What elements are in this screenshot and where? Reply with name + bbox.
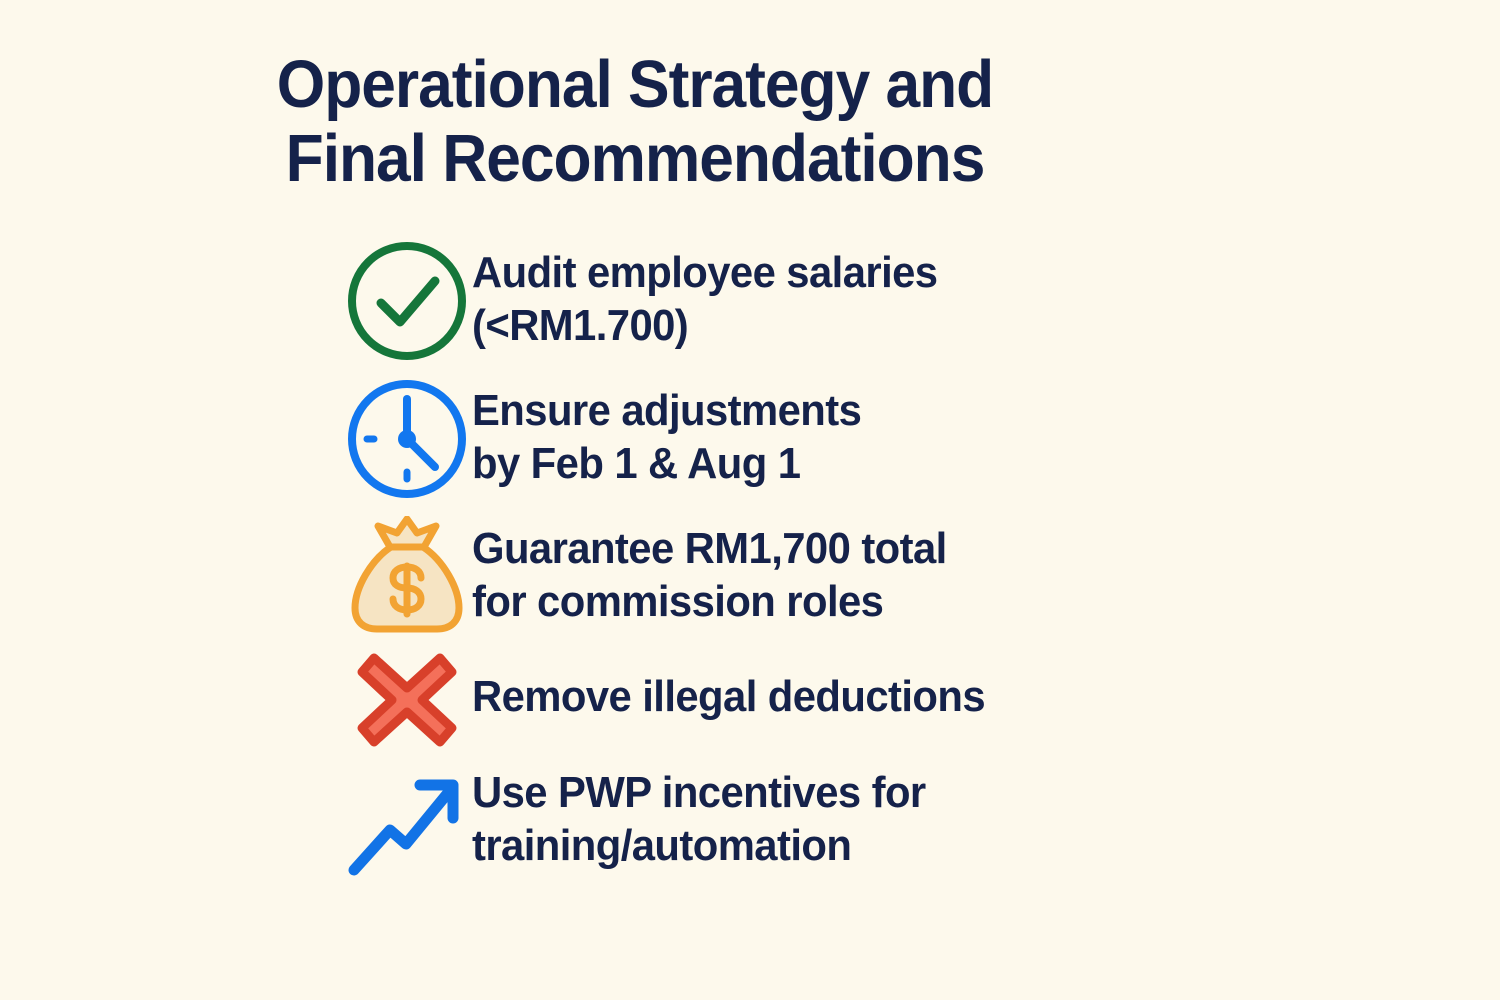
clock-icon: [342, 376, 472, 502]
list-item-label: Ensure adjustments by Feb 1 & Aug 1: [472, 376, 1318, 490]
list-item-label: Remove illegal deductions: [472, 648, 1318, 723]
list-item: Remove illegal deductions: [342, 648, 1362, 752]
list-item-label: Use PWP incentives for training/automati…: [472, 764, 1318, 872]
list-item: Ensure adjustments by Feb 1 & Aug 1: [342, 376, 1362, 502]
trending-up-arrow-icon: [342, 764, 472, 882]
check-circle-icon: [342, 238, 472, 364]
list-item: Use PWP incentives for training/automati…: [342, 764, 1362, 882]
page-title: Operational Strategy and Final Recommend…: [0, 48, 1500, 196]
list-item: Audit employee salaries (<RM1.700): [342, 238, 1362, 364]
slide-canvas: Operational Strategy and Final Recommend…: [0, 0, 1500, 1000]
red-cross-icon: [342, 648, 472, 752]
list-item-label: Guarantee RM1,700 total for commission r…: [472, 514, 1318, 628]
money-bag-icon: [342, 514, 472, 636]
list-item-label: Audit employee salaries (<RM1.700): [472, 238, 1318, 352]
page-title-line-1: Operational Strategy and: [44, 48, 1225, 122]
list-item: Guarantee RM1,700 total for commission r…: [342, 514, 1362, 636]
recommendations-list: Audit employee salaries (<RM1.700) Ensur…: [342, 238, 1362, 894]
page-title-line-2: Final Recommendations: [44, 122, 1225, 196]
